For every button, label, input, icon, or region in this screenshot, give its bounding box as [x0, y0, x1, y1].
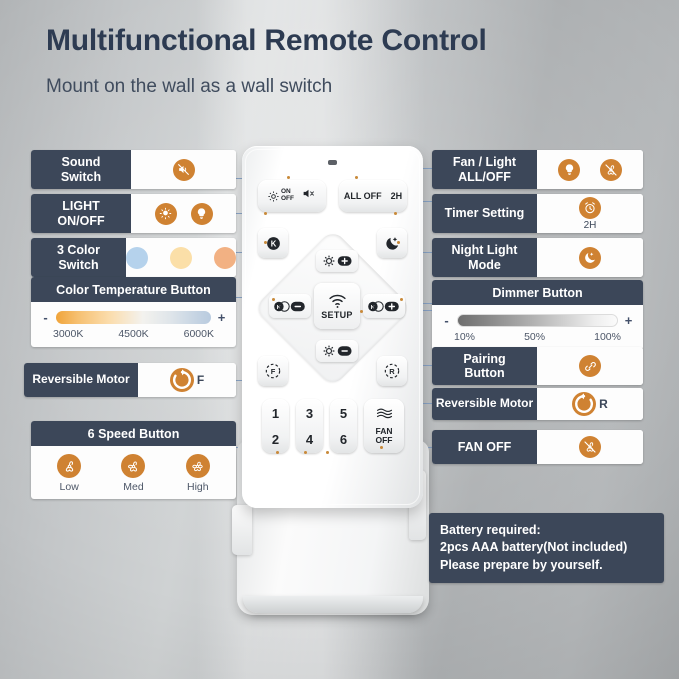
fan-2-icon [57, 454, 81, 478]
card-dimmer-body: - + 10% 50% 100% [432, 305, 643, 350]
index-dot [326, 451, 329, 454]
svg-text:K: K [270, 239, 276, 248]
card-pairing-button: PairingButton [432, 347, 643, 385]
speaker-mute-icon [301, 187, 316, 205]
card-color-temperature-title: Color Temperature Button [31, 277, 236, 302]
card-6-speed-body: Low Med [31, 446, 236, 499]
page-title: Multifunctional Remote Control [46, 24, 487, 58]
dimmer-tick: 50% [524, 331, 545, 343]
speed-step-med: Med [121, 454, 145, 493]
speed-step-high-caption: High [187, 481, 209, 493]
index-dot [276, 451, 279, 454]
card-timer-setting-value: 2H [537, 194, 643, 233]
card-pairing-button-value [537, 347, 643, 385]
index-dot [355, 176, 358, 179]
speed-step-low: Low [57, 454, 81, 493]
speed-steps: Low Med [37, 452, 230, 493]
cct-tick: 6000K [184, 328, 214, 340]
key-alloff-label: ALL OFF [344, 191, 382, 201]
svg-text:R: R [389, 367, 395, 376]
card-light-onoff-value [131, 194, 236, 233]
card-color-temperature: Color Temperature Button - + 3000K 4500K… [31, 277, 236, 347]
cct-ticks: 3000K 4500K 6000K [41, 325, 226, 340]
card-dimmer-title: Dimmer Button [432, 280, 643, 305]
cct-gradient-bar [56, 311, 211, 324]
rotate-cw-key-icon: F [263, 361, 283, 381]
dimmer-tick: 10% [454, 331, 475, 343]
card-6-speed-title: 6 Speed Button [31, 421, 236, 446]
index-dot [380, 446, 383, 449]
infographic-canvas: Multifunctional Remote Control Mount on … [0, 0, 679, 679]
cct-up-icon: K [367, 299, 401, 314]
brightness-up-icon [321, 254, 353, 268]
card-3color-switch-value [126, 238, 236, 277]
card-night-light-mode: Night LightMode [432, 238, 643, 277]
key-cct-up[interactable]: K [363, 294, 405, 318]
key-light-onoff-sound[interactable]: ONOFF [258, 180, 326, 212]
svg-text:F: F [271, 367, 276, 376]
card-dimmer: Dimmer Button - + 10% 50% 100% [432, 280, 643, 350]
remote-body: ONOFF ALL OFF 2H K [242, 146, 423, 508]
key-reversible-forward[interactable]: F [258, 356, 288, 386]
key-speed-4-label: 4 [306, 432, 313, 447]
rotate-ccw-icon [572, 392, 596, 416]
card-timer-setting-label: Timer Setting [432, 194, 537, 233]
card-fan-light-alloff: Fan / LightALL/OFF [432, 150, 643, 189]
page-subtitle: Mount on the wall as a wall switch [46, 76, 332, 98]
moon-star-icon [579, 247, 601, 269]
battery-note: Battery required: 2pcs AAA battery(Not i… [429, 513, 664, 583]
cct-minus-label: - [41, 310, 50, 325]
card-sound-switch: SoundSwitch [31, 150, 236, 189]
fan-off-icon [579, 436, 601, 458]
key-speed-1-2[interactable]: 1 2 [262, 399, 289, 453]
index-dot [400, 298, 403, 301]
card-reversible-forward-value: F [138, 363, 236, 397]
card-light-onoff: LIGHTON/OFF [31, 194, 236, 233]
swatch-warm [214, 247, 236, 269]
cct-tick: 4500K [118, 328, 148, 340]
card-sound-switch-label: SoundSwitch [31, 150, 131, 189]
card-reversible-motor-forward: Reversible Motor F [24, 363, 236, 397]
key-brightness-up[interactable] [316, 250, 358, 272]
battery-note-line-2: 2pcs AAA battery(Not included) [440, 540, 627, 554]
card-night-light-mode-value [537, 238, 643, 277]
card-fan-off-value [537, 430, 643, 464]
fan-off-icon [600, 159, 622, 181]
card-reversible-reverse-value: R [537, 388, 643, 420]
color-k-icon: K [265, 235, 282, 252]
dimmer-tick: 100% [594, 331, 621, 343]
key-fan-off[interactable]: FANOFF [364, 399, 404, 453]
key-reversible-reverse[interactable]: R [377, 356, 407, 386]
key-speed-5-6[interactable]: 5 6 [330, 399, 357, 453]
key-brightness-down[interactable] [316, 340, 358, 362]
key-speed-2-label: 2 [272, 432, 279, 447]
reversible-forward-letter: F [197, 373, 204, 387]
card-night-light-mode-label: Night LightMode [432, 238, 537, 277]
card-fan-off: FAN OFF [432, 430, 643, 464]
bulb-icon [558, 159, 580, 181]
speed-step-high: High [186, 454, 210, 493]
key-setup-label: SETUP [321, 310, 353, 320]
cct-tick: 3000K [53, 328, 83, 340]
key-speed-5-label: 5 [340, 406, 347, 421]
index-dot [394, 212, 397, 215]
index-dot [272, 298, 275, 301]
rotate-ccw-key-icon: R [382, 361, 402, 381]
fan-3-icon [121, 454, 145, 478]
card-reversible-reverse-label: Reversible Motor [432, 388, 537, 420]
ir-emitter-icon [328, 160, 337, 165]
fan-4-icon [186, 454, 210, 478]
key-speed-1-label: 1 [272, 406, 279, 421]
brightness-down-icon [321, 344, 353, 358]
timer-sub-label: 2H [584, 220, 597, 231]
card-3color-switch-label: 3 ColorSwitch [31, 238, 126, 277]
key-night-light[interactable] [377, 228, 407, 258]
wall-cradle-lip [243, 596, 423, 613]
rotate-cw-icon [170, 368, 194, 392]
speed-step-med-caption: Med [123, 481, 143, 493]
cct-slider[interactable]: - + [41, 310, 226, 325]
key-2h-label: 2H [391, 191, 403, 201]
key-cct-down[interactable]: K [269, 294, 311, 318]
sound-off-icon [173, 159, 195, 181]
dimmer-plus-label: + [624, 313, 633, 328]
card-sound-switch-value [131, 150, 236, 189]
card-3color-switch: 3 ColorSwitch [31, 238, 236, 277]
reversible-reverse-letter: R [599, 397, 608, 411]
swatch-cool [126, 247, 148, 269]
dimmer-slider[interactable]: - + [442, 313, 633, 328]
cct-plus-label: + [217, 310, 226, 325]
key-speed-3-label: 3 [306, 406, 313, 421]
key-speed-6-label: 6 [340, 432, 347, 447]
card-6-speed: 6 Speed Button Low [31, 421, 236, 499]
key-setup[interactable]: SETUP [314, 283, 360, 329]
wifi-icon [327, 293, 348, 309]
cradle-tab-left [232, 505, 252, 555]
dimmer-ticks: 10% 50% 100% [442, 328, 633, 343]
index-dot [360, 310, 363, 313]
alarm-clock-icon [579, 197, 601, 219]
key-fan-off-label: FANOFF [376, 427, 393, 446]
index-dot [264, 212, 267, 215]
card-pairing-button-label: PairingButton [432, 347, 537, 385]
card-reversible-forward-label: Reversible Motor [24, 363, 138, 397]
swatch-neutral [170, 247, 192, 269]
card-reversible-motor-reverse: Reversible Motor R [432, 388, 643, 420]
index-dot [397, 241, 400, 244]
dimmer-gradient-bar [457, 314, 618, 327]
link-icon [579, 355, 601, 377]
key-3color[interactable]: K [258, 228, 288, 258]
timer-icon-stack: 2H [579, 197, 601, 231]
key-light-onoff-label: ONOFF [281, 189, 294, 203]
index-dot [287, 176, 290, 179]
card-light-onoff-label: LIGHTON/OFF [31, 194, 131, 233]
key-speed-3-4[interactable]: 3 4 [296, 399, 323, 453]
dimmer-minus-label: - [442, 313, 451, 328]
card-fan-off-label: FAN OFF [432, 430, 537, 464]
battery-note-line-1: Battery required: [440, 523, 541, 537]
cct-down-icon: K [273, 299, 307, 314]
card-timer-setting: Timer Setting 2H [432, 194, 643, 233]
key-alloff-timer[interactable]: ALL OFF 2H [339, 180, 407, 212]
card-color-temperature-body: - + 3000K 4500K 6000K [31, 302, 236, 347]
index-dot [264, 241, 267, 244]
index-dot [304, 451, 307, 454]
battery-note-line-3: Please prepare by yourself. [440, 558, 603, 572]
air-wave-icon [376, 407, 393, 419]
speed-step-low-caption: Low [60, 481, 79, 493]
light-on-icon [155, 203, 177, 225]
light-onoff-glyph: ONOFF [268, 189, 294, 203]
card-fan-light-alloff-label: Fan / LightALL/OFF [432, 150, 537, 189]
bulb-icon [191, 203, 213, 225]
card-fan-light-alloff-value [537, 150, 643, 189]
